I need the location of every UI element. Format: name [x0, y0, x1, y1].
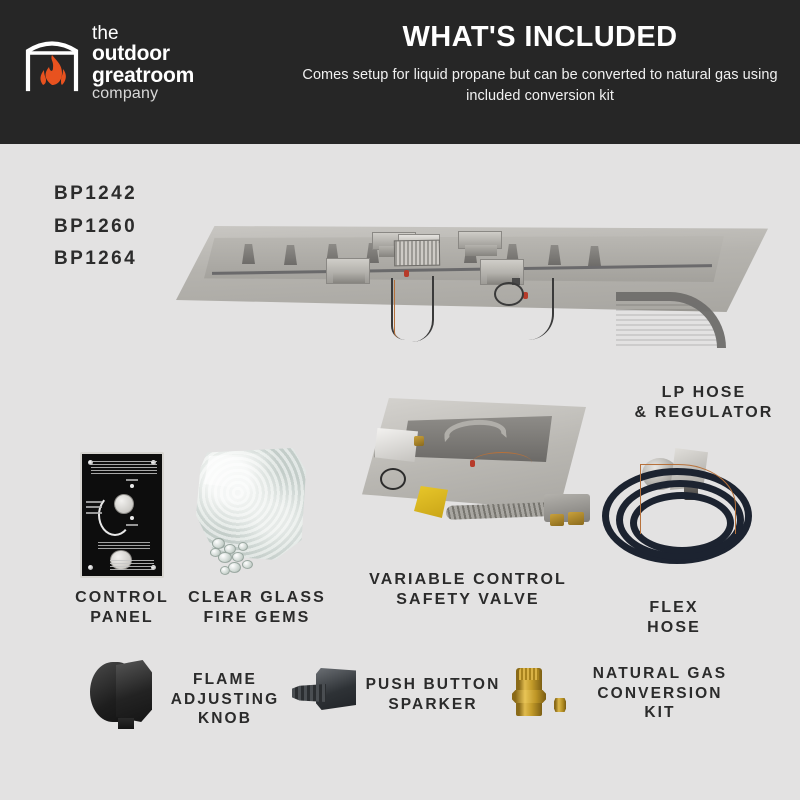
panel-side-label [86, 512, 102, 514]
model-number-list: BP1242 BP1260 BP1264 [54, 178, 137, 276]
pilot-assembly-box [374, 428, 418, 462]
model-number: BP1264 [54, 243, 137, 276]
panel-screw [88, 565, 93, 570]
igniter-wire-loop [380, 468, 406, 490]
brand-logo: the outdoor greatroom company [24, 22, 194, 103]
label-flex-hose: FLEX HOSE [614, 598, 734, 638]
whats-included-page: the outdoor greatroom company WHAT'S INC… [0, 0, 800, 800]
label-line: KNOB [160, 709, 290, 729]
logo-line-company: company [92, 86, 194, 102]
push-button-sparker-photo [292, 666, 358, 722]
panel-tick-label [126, 479, 138, 481]
label-clear-glass-fire-gems: CLEAR GLASS FIRE GEMS [182, 588, 332, 628]
logo-line-the: the [92, 24, 194, 43]
label-line: SAFETY VALVE [358, 590, 578, 610]
logo-line-outdoor: outdoor [92, 42, 170, 65]
thermocouple-wire [394, 280, 400, 338]
label-flame-adjusting-knob: FLAME ADJUSTING KNOB [160, 670, 290, 729]
page-subtitle: Comes setup for liquid propane but can b… [280, 65, 800, 107]
label-line: LP HOSE [614, 383, 794, 403]
label-line: FIRE GEMS [182, 608, 332, 628]
brass-orifice-threads [519, 668, 539, 680]
pergola-flame-icon [24, 31, 80, 93]
label-line: HOSE [614, 618, 734, 638]
burner-pan-bracket [326, 258, 370, 284]
glass-gem [232, 552, 244, 562]
flame-adjusting-knob-photo [90, 658, 160, 730]
label-line: & REGULATOR [614, 403, 794, 423]
glass-gem [242, 560, 253, 569]
panel-warning-text [91, 461, 157, 474]
brass-fitting [414, 436, 424, 446]
clear-glass-fire-gems-photo [190, 442, 312, 582]
panel-tick-hi [130, 484, 134, 488]
brand-wordmark: the outdoor greatroom company [92, 22, 194, 103]
label-variable-control-safety-valve: VARIABLE CONTROL SAFETY VALVE [358, 570, 578, 610]
label-line: FLAME [160, 670, 290, 690]
panel-tick-label [126, 524, 138, 526]
label-line: PANEL [52, 608, 192, 628]
glass-gem [210, 548, 221, 557]
igniter-wire [528, 278, 554, 340]
header-text-block: WHAT'S INCLUDED Comes setup for liquid p… [280, 22, 800, 107]
label-line: CLEAR GLASS [182, 588, 332, 608]
page-header: the outdoor greatroom company WHAT'S INC… [0, 0, 800, 144]
igniter-marker [404, 270, 409, 277]
label-line: CONTROL [52, 588, 192, 608]
label-line: FLEX [614, 598, 734, 618]
label-push-button-sparker: PUSH BUTTON SPARKER [358, 675, 508, 714]
glass-gem [228, 562, 241, 573]
panel-brand-mark [110, 560, 154, 571]
panel-push-label [98, 542, 150, 549]
brass-fitting [568, 512, 584, 525]
model-number: BP1260 [54, 211, 137, 244]
flex-hose-photo [596, 462, 788, 594]
label-lp-hose-regulator: LP HOSE & REGULATOR [614, 383, 794, 423]
valve-flex-connector [446, 502, 550, 520]
glass-gem [238, 542, 248, 551]
panel-side-label [86, 501, 102, 503]
variable-control-safety-valve-photo [362, 398, 612, 558]
flame-control-knob[interactable] [114, 494, 134, 514]
label-line: KIT [570, 703, 750, 723]
thermocouple-lead [472, 452, 532, 474]
brass-fitting [550, 514, 564, 526]
label-line: PUSH BUTTON [358, 675, 508, 695]
igniter-wire [412, 276, 434, 342]
label-line: ADJUSTING [160, 690, 290, 710]
label-natural-gas-conversion-kit: NATURAL GAS CONVERSION KIT [570, 664, 750, 723]
label-line: NATURAL GAS [570, 664, 750, 684]
brass-small-orifice [554, 698, 566, 712]
knob-body [116, 660, 152, 722]
thermocouple-lead [640, 464, 736, 534]
wire-loop [494, 282, 524, 306]
label-control-panel: CONTROL PANEL [52, 588, 192, 628]
brass-hex-nut [512, 690, 546, 703]
label-line: VARIABLE CONTROL [358, 570, 578, 590]
control-panel-body [80, 452, 164, 578]
burner-pan-bracket [458, 231, 502, 249]
logo-line-greatroom: greatroom [92, 65, 194, 86]
glass-gem [220, 566, 230, 575]
page-title: WHAT'S INCLUDED [280, 22, 800, 54]
sparker-barrel [292, 684, 326, 702]
h-burner-assembly [394, 240, 440, 267]
label-line: SPARKER [358, 695, 508, 715]
panel-tick-lo [130, 516, 134, 520]
control-panel-photo [80, 452, 164, 578]
panel-side-label [86, 506, 102, 508]
model-number: BP1242 [54, 178, 137, 211]
igniter-marker [470, 460, 475, 467]
knob-stem [118, 718, 134, 729]
natural-gas-conversion-kit-photo [512, 668, 576, 724]
stainless-burner-pan-photo [176, 218, 768, 346]
label-line: CONVERSION [570, 684, 750, 704]
